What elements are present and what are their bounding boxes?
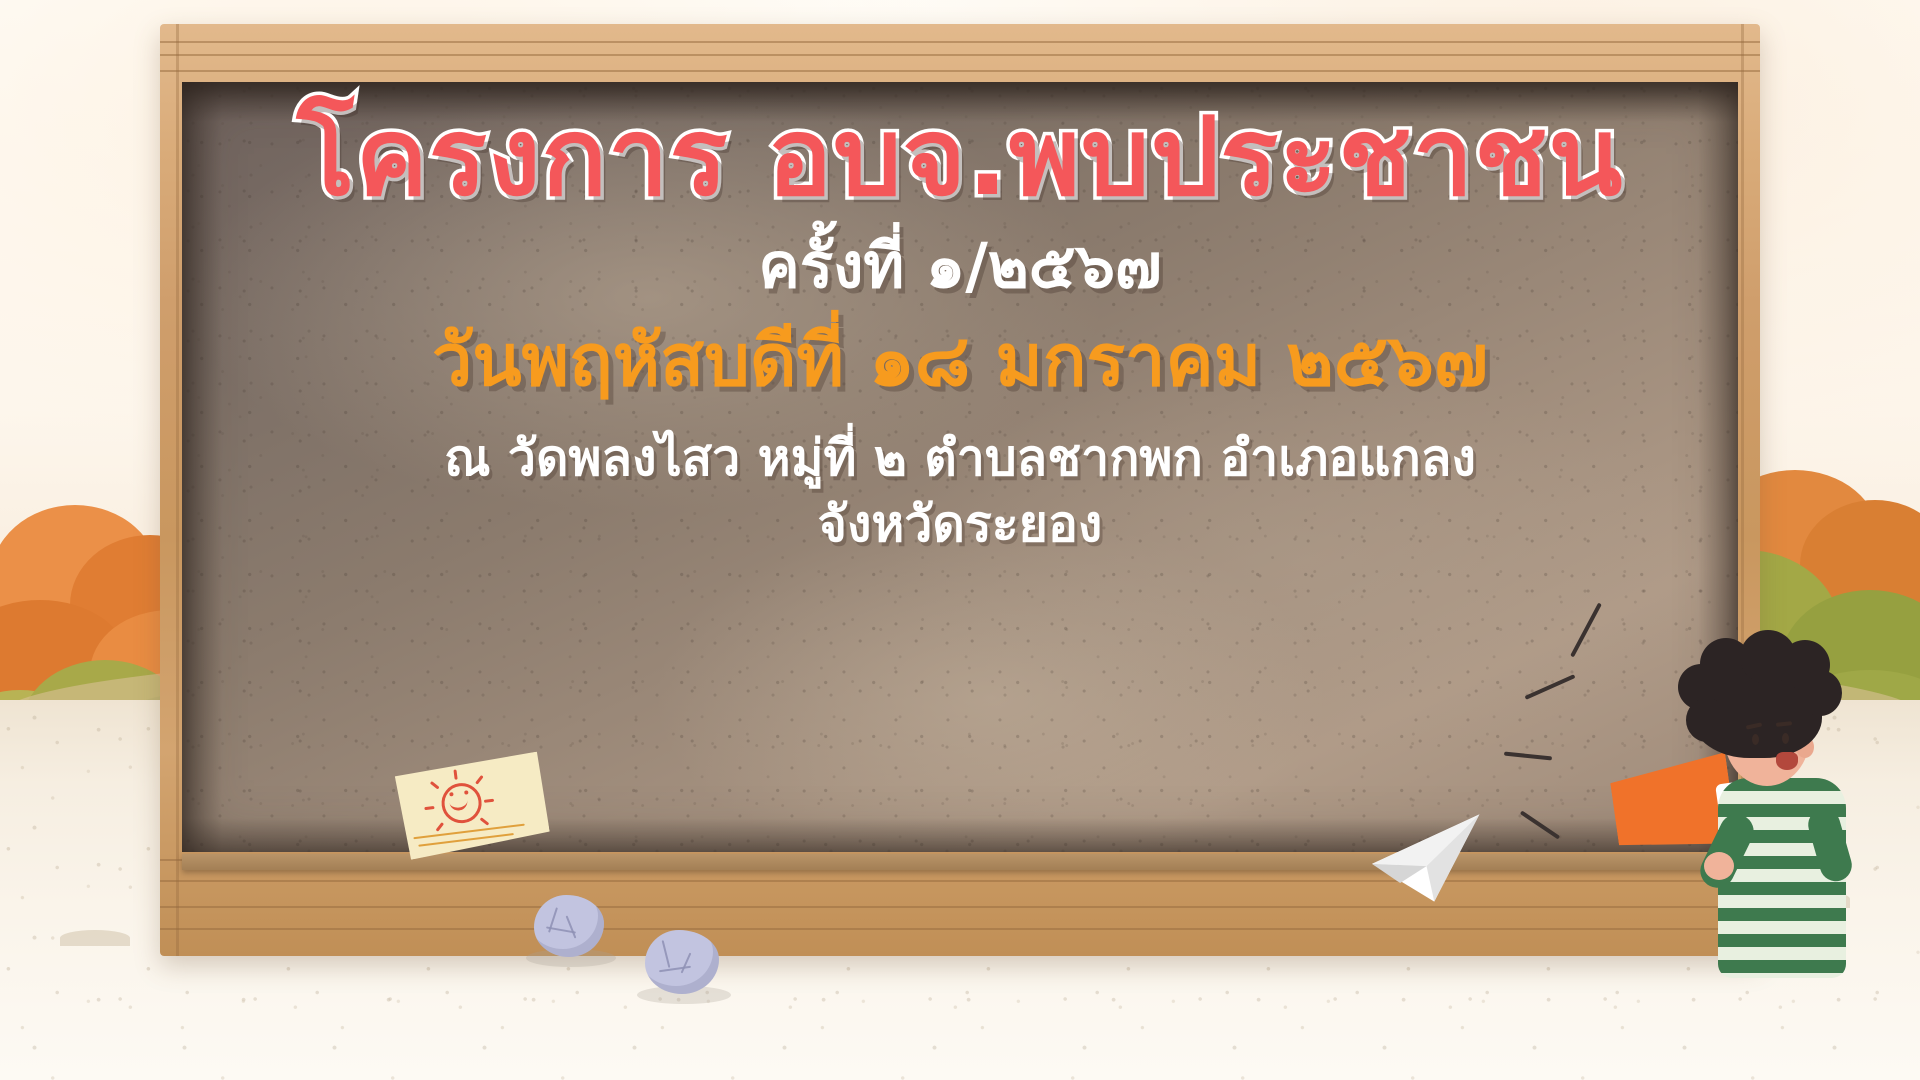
character-hand [1704,852,1734,880]
character-eye [1782,733,1789,744]
ground-tuft [60,930,130,946]
poster-text-block: โครงการ อบจ.พบประชาชน ครั้งที่ ๑/๒๕๖๗ วั… [182,98,1738,556]
paper-plane-icon [1364,812,1492,910]
crumpled-paper-ball [645,930,719,994]
crumpled-paper-ball [534,895,604,957]
round-label: ครั้งที่ ๑/๒๕๖๗ [182,229,1738,303]
event-date: วันพฤหัสบดีที่ ๑๘ มกราคม ๒๕๖๗ [182,317,1738,403]
event-venue: ณ วัดพลงไสว หมู่ที่ ๒ ตำบลชากพก อำเภอแกล… [182,426,1738,490]
chalkboard: โครงการ อบจ.พบประชาชน ครั้งที่ ๑/๒๕๖๗ วั… [160,24,1760,956]
poster-canvas: โครงการ อบจ.พบประชาชน ครั้งที่ ๑/๒๕๖๗ วั… [0,0,1920,1080]
character-mouth [1776,752,1798,770]
page-title: โครงการ อบจ.พบประชาชน [182,98,1738,219]
person-with-megaphone [1600,640,1910,1020]
event-province: จังหวัดระยอง [182,492,1738,556]
character-eye [1752,734,1759,745]
